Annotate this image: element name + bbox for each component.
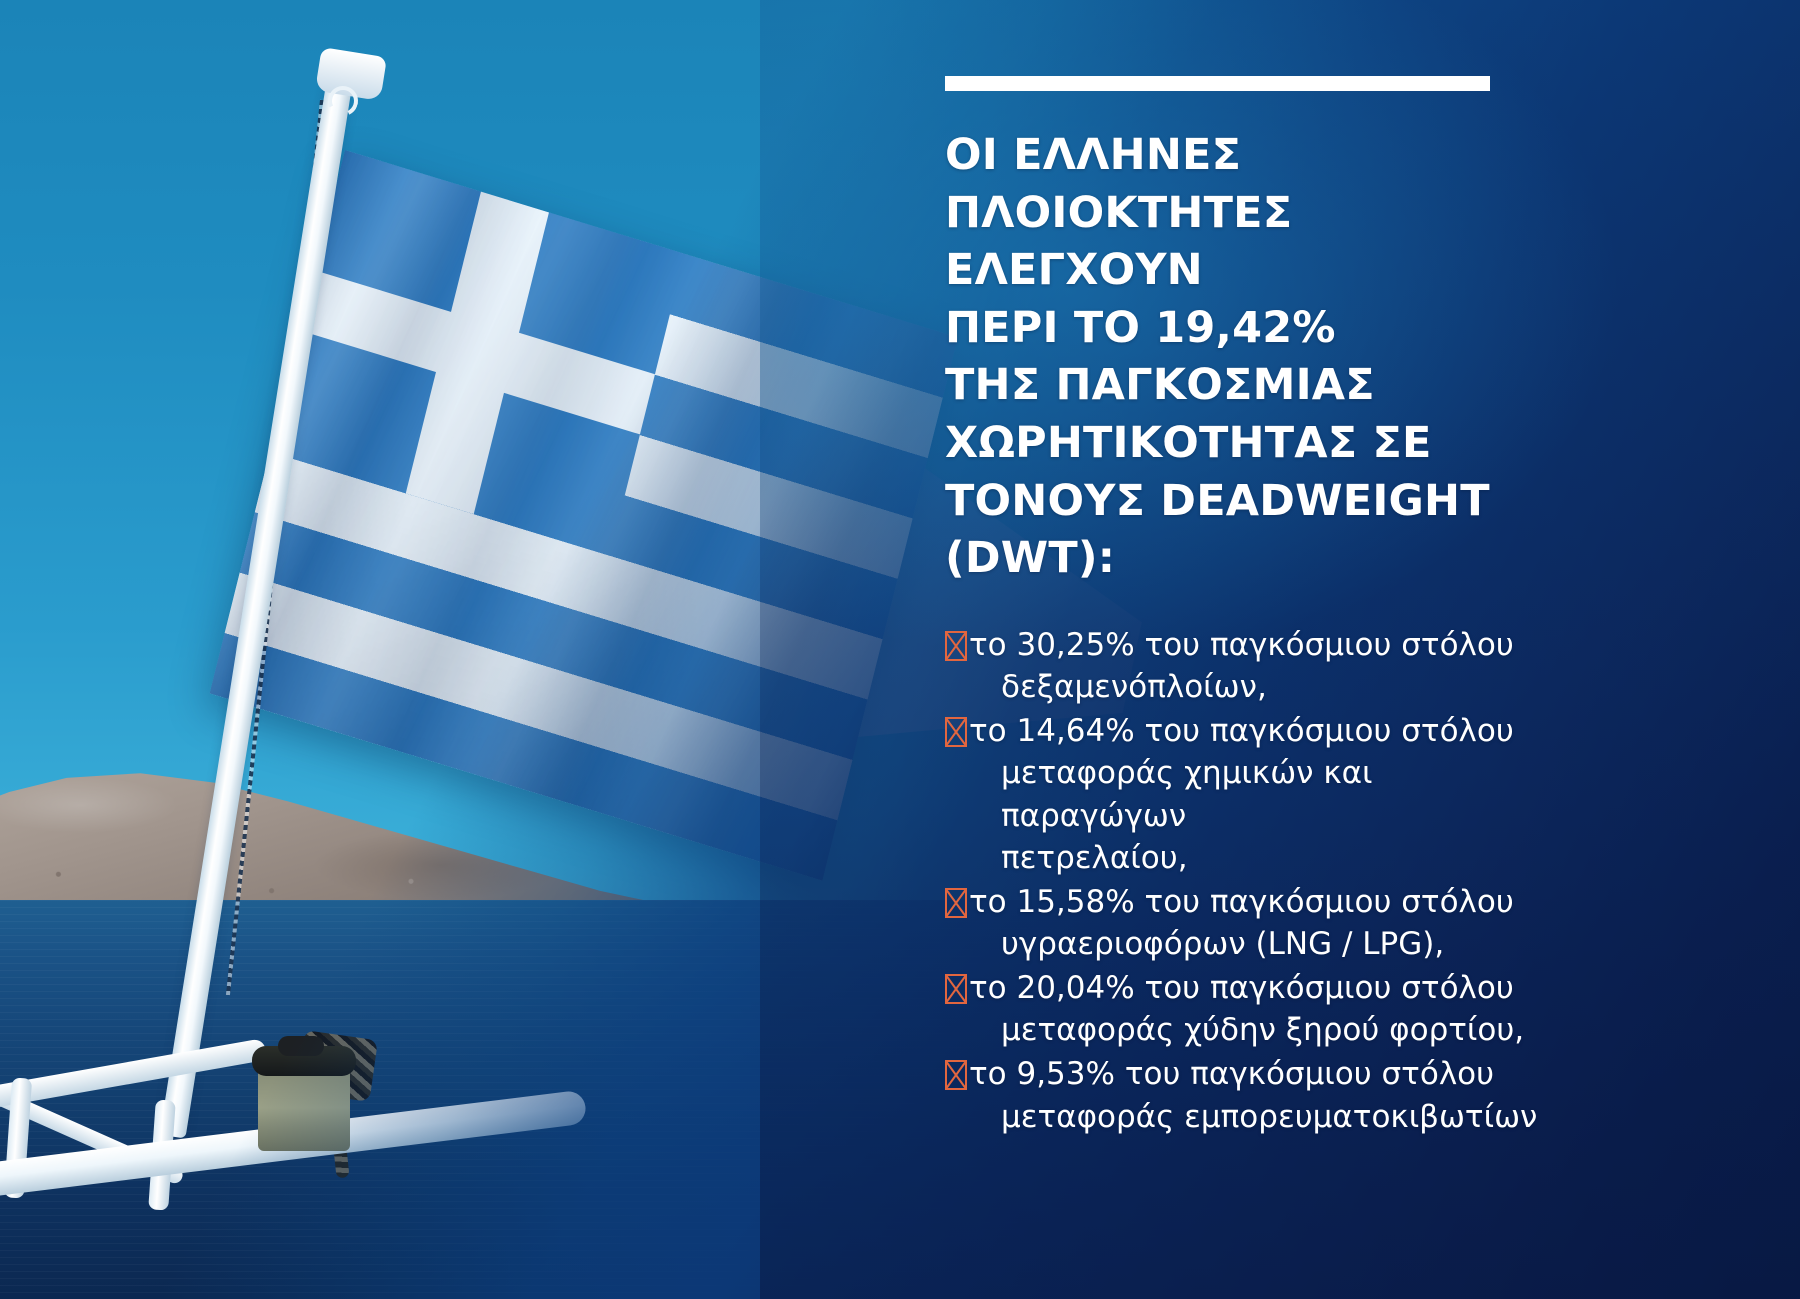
list-item-first-line: το 30,25% του παγκόσμιου στόλου bbox=[969, 627, 1514, 663]
list-item-first-line: το 15,58% του παγκόσμιου στόλου bbox=[969, 884, 1514, 920]
list-item-continuation: δεξαμενόπλοίων, bbox=[969, 666, 1514, 708]
greek-flag-group bbox=[300, 120, 1000, 940]
infographic-poster: ΟΙ ΕΛΛΗΝΕΣ ΠΛΟΙΟΚΤΗΤΕΣ ΕΛΕΓΧΟΥΝ ΠΕΡΙ ΤΟ … bbox=[0, 0, 1800, 1299]
list-item: το 30,25% του παγκόσμιου στόλουδεξαμενόπ… bbox=[945, 624, 1545, 708]
divider-rule bbox=[945, 76, 1490, 91]
bullet-marker-icon bbox=[945, 888, 967, 918]
list-item-label: το 30,25% του παγκόσμιου στόλουδεξαμενόπ… bbox=[969, 624, 1514, 708]
list-item-first-line: το 14,64% του παγκόσμιου στόλου bbox=[969, 713, 1514, 749]
list-item: το 20,04% του παγκόσμιου στόλουμεταφοράς… bbox=[945, 967, 1545, 1051]
list-item-label: το 15,58% του παγκόσμιου στόλουυγραεριοφ… bbox=[969, 881, 1514, 965]
bullet-marker-icon bbox=[945, 717, 967, 747]
list-item-label: το 14,64% του παγκόσμιου στόλουμεταφοράς… bbox=[969, 710, 1545, 879]
list-item-continuation: μεταφοράς χημικών και παραγώγων πετρελαί… bbox=[969, 752, 1545, 878]
bullet-marker-icon bbox=[945, 1060, 967, 1090]
list-item-label: το 9,53% του παγκόσμιου στόλουμεταφοράς … bbox=[969, 1053, 1537, 1137]
list-item-first-line: το 20,04% του παγκόσμιου στόλου bbox=[969, 970, 1514, 1006]
list-item-continuation: μεταφοράς χύδην ξηρού φορτίου, bbox=[969, 1009, 1524, 1051]
list-item: το 9,53% του παγκόσμιου στόλουμεταφοράς … bbox=[945, 1053, 1545, 1137]
page-title: ΟΙ ΕΛΛΗΝΕΣ ΠΛΟΙΟΚΤΗΤΕΣ ΕΛΕΓΧΟΥΝ ΠΕΡΙ ΤΟ … bbox=[945, 127, 1545, 588]
statistics-list: το 30,25% του παγκόσμιου στόλουδεξαμενόπ… bbox=[945, 624, 1545, 1138]
text-panel: ΟΙ ΕΛΛΗΝΕΣ ΠΛΟΙΟΚΤΗΤΕΣ ΕΛΕΓΧΟΥΝ ΠΕΡΙ ΤΟ … bbox=[945, 76, 1545, 1140]
deck-bollard-knob bbox=[278, 1036, 324, 1056]
bullet-marker-icon bbox=[945, 974, 967, 1004]
list-item-first-line: το 9,53% του παγκόσμιου στόλου bbox=[969, 1056, 1494, 1092]
list-item-continuation: υγραεριοφόρων (LNG / LPG), bbox=[969, 923, 1514, 965]
list-item-label: το 20,04% του παγκόσμιου στόλουμεταφοράς… bbox=[969, 967, 1524, 1051]
list-item: το 14,64% του παγκόσμιου στόλουμεταφοράς… bbox=[945, 710, 1545, 879]
list-item-continuation: μεταφοράς εμπορευματοκιβωτίων bbox=[969, 1096, 1537, 1138]
bullet-marker-icon bbox=[945, 631, 967, 661]
list-item: το 15,58% του παγκόσμιου στόλουυγραεριοφ… bbox=[945, 881, 1545, 965]
